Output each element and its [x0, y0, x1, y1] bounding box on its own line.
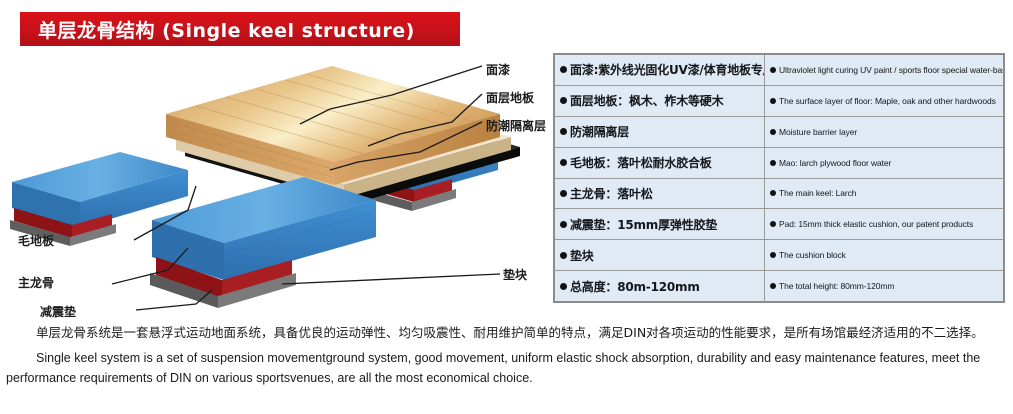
spec-text-chinese: 减震垫：15mm厚弹性胶垫: [570, 216, 717, 233]
table-row: 面漆:紫外线光固化UV漆/体育地板专用水性漆 Ultraviolet light…: [555, 55, 1003, 86]
bullet-icon: [770, 98, 776, 104]
callout-label-surface-floor: 面层地板: [486, 89, 534, 106]
spec-text-english: The surface layer of floor: Maple, oak a…: [779, 96, 996, 106]
table-cell-english: Ultraviolet light curing UV paint / spor…: [765, 55, 1003, 85]
spec-text-english: Pad: 15mm thick elastic cushion, our pat…: [779, 219, 973, 229]
spec-text-chinese: 面层地板：枫木、柞木等硬木: [570, 92, 723, 109]
spec-text-english: Mao: larch plywood floor water: [779, 158, 891, 168]
bullet-icon: [770, 160, 776, 166]
callout-label-moisture-barrier: 防潮隔离层: [486, 117, 546, 134]
table-cell-english: Moisture barrier layer: [765, 117, 1003, 147]
table-cell-chinese: 面层地板：枫木、柞木等硬木: [555, 86, 765, 116]
bullet-icon: [560, 190, 567, 197]
bullet-icon: [770, 221, 776, 227]
table-cell-english: The main keel: Larch: [765, 179, 1003, 209]
spec-text-chinese: 主龙骨：落叶松: [570, 185, 653, 202]
table-row: 总高度：80m-120mm The total height: 80mm-120…: [555, 271, 1003, 301]
description-paragraphs: 单层龙骨系统是一套悬浮式运动地面系统，具备优良的运动弹性、均匀吸震性、耐用维护简…: [0, 322, 1013, 388]
table-cell-english: The total height: 80mm-120mm: [765, 271, 1003, 301]
table-cell-chinese: 毛地板：落叶松耐水胶合板: [555, 148, 765, 178]
paragraph-chinese: 单层龙骨系统是一套悬浮式运动地面系统，具备优良的运动弹性、均匀吸震性、耐用维护简…: [0, 322, 1013, 343]
bullet-icon: [560, 221, 567, 228]
bullet-icon: [770, 252, 776, 258]
callout-label-main-keel: 主龙骨: [18, 274, 54, 291]
table-cell-english: The cushion block: [765, 240, 1003, 270]
table-cell-chinese: 防潮隔离层: [555, 117, 765, 147]
bullet-icon: [560, 159, 567, 166]
spec-text-chinese: 总高度：80m-120mm: [570, 278, 700, 295]
callout-label-top-coat: 面漆: [486, 61, 510, 78]
bullet-icon: [560, 283, 567, 290]
bullet-icon: [770, 283, 776, 289]
bullet-icon: [560, 66, 567, 73]
table-row: 防潮隔离层 Moisture barrier layer: [555, 117, 1003, 148]
table-cell-english: Pad: 15mm thick elastic cushion, our pat…: [765, 209, 1003, 239]
bullet-icon: [770, 190, 776, 196]
table-cell-english: Mao: larch plywood floor water: [765, 148, 1003, 178]
table-row: 毛地板：落叶松耐水胶合板 Mao: larch plywood floor wa…: [555, 148, 1003, 179]
callout-label-rough-floor: 毛地板: [18, 232, 54, 249]
table-cell-chinese: 总高度：80m-120mm: [555, 271, 765, 301]
bullet-icon: [770, 129, 776, 135]
table-row: 垫块 The cushion block: [555, 240, 1003, 271]
table-cell-chinese: 主龙骨：落叶松: [555, 179, 765, 209]
floor-structure-diagram: [0, 52, 548, 317]
spec-text-english: Moisture barrier layer: [779, 127, 857, 137]
table-cell-chinese: 减震垫：15mm厚弹性胶垫: [555, 209, 765, 239]
table-row: 减震垫：15mm厚弹性胶垫 Pad: 15mm thick elastic cu…: [555, 209, 1003, 240]
spec-text-english: The cushion block: [779, 250, 846, 260]
page-title-banner: 单层龙骨结构 (Single keel structure): [20, 12, 460, 46]
spec-text-chinese: 面漆:紫外线光固化UV漆/体育地板专用水性漆: [570, 61, 765, 78]
spec-text-english: Ultraviolet light curing UV paint / spor…: [779, 65, 1003, 75]
spec-text-english: The total height: 80mm-120mm: [779, 281, 894, 291]
specification-table: 面漆:紫外线光固化UV漆/体育地板专用水性漆 Ultraviolet light…: [553, 53, 1005, 303]
table-cell-chinese: 面漆:紫外线光固化UV漆/体育地板专用水性漆: [555, 55, 765, 85]
table-row: 面层地板：枫木、柞木等硬木 The surface layer of floor…: [555, 86, 1003, 117]
bullet-icon: [560, 97, 567, 104]
spec-text-chinese: 垫块: [570, 247, 594, 264]
spec-text-chinese: 毛地板：落叶松耐水胶合板: [570, 154, 712, 171]
bullet-icon: [560, 128, 567, 135]
spec-text-english: The main keel: Larch: [779, 188, 856, 198]
spec-text-chinese: 防潮隔离层: [570, 123, 629, 140]
callout-label-cushion-block: 垫块: [503, 266, 527, 283]
bullet-icon: [770, 67, 776, 73]
callout-label-shock-pad: 减震垫: [40, 303, 76, 320]
table-row: 主龙骨：落叶松 The main keel: Larch: [555, 179, 1003, 210]
bullet-icon: [560, 252, 567, 259]
table-cell-chinese: 垫块: [555, 240, 765, 270]
paragraph-english: Single keel system is a set of suspensio…: [0, 348, 1013, 388]
table-cell-english: The surface layer of floor: Maple, oak a…: [765, 86, 1003, 116]
page-title: 单层龙骨结构 (Single keel structure): [38, 16, 415, 43]
